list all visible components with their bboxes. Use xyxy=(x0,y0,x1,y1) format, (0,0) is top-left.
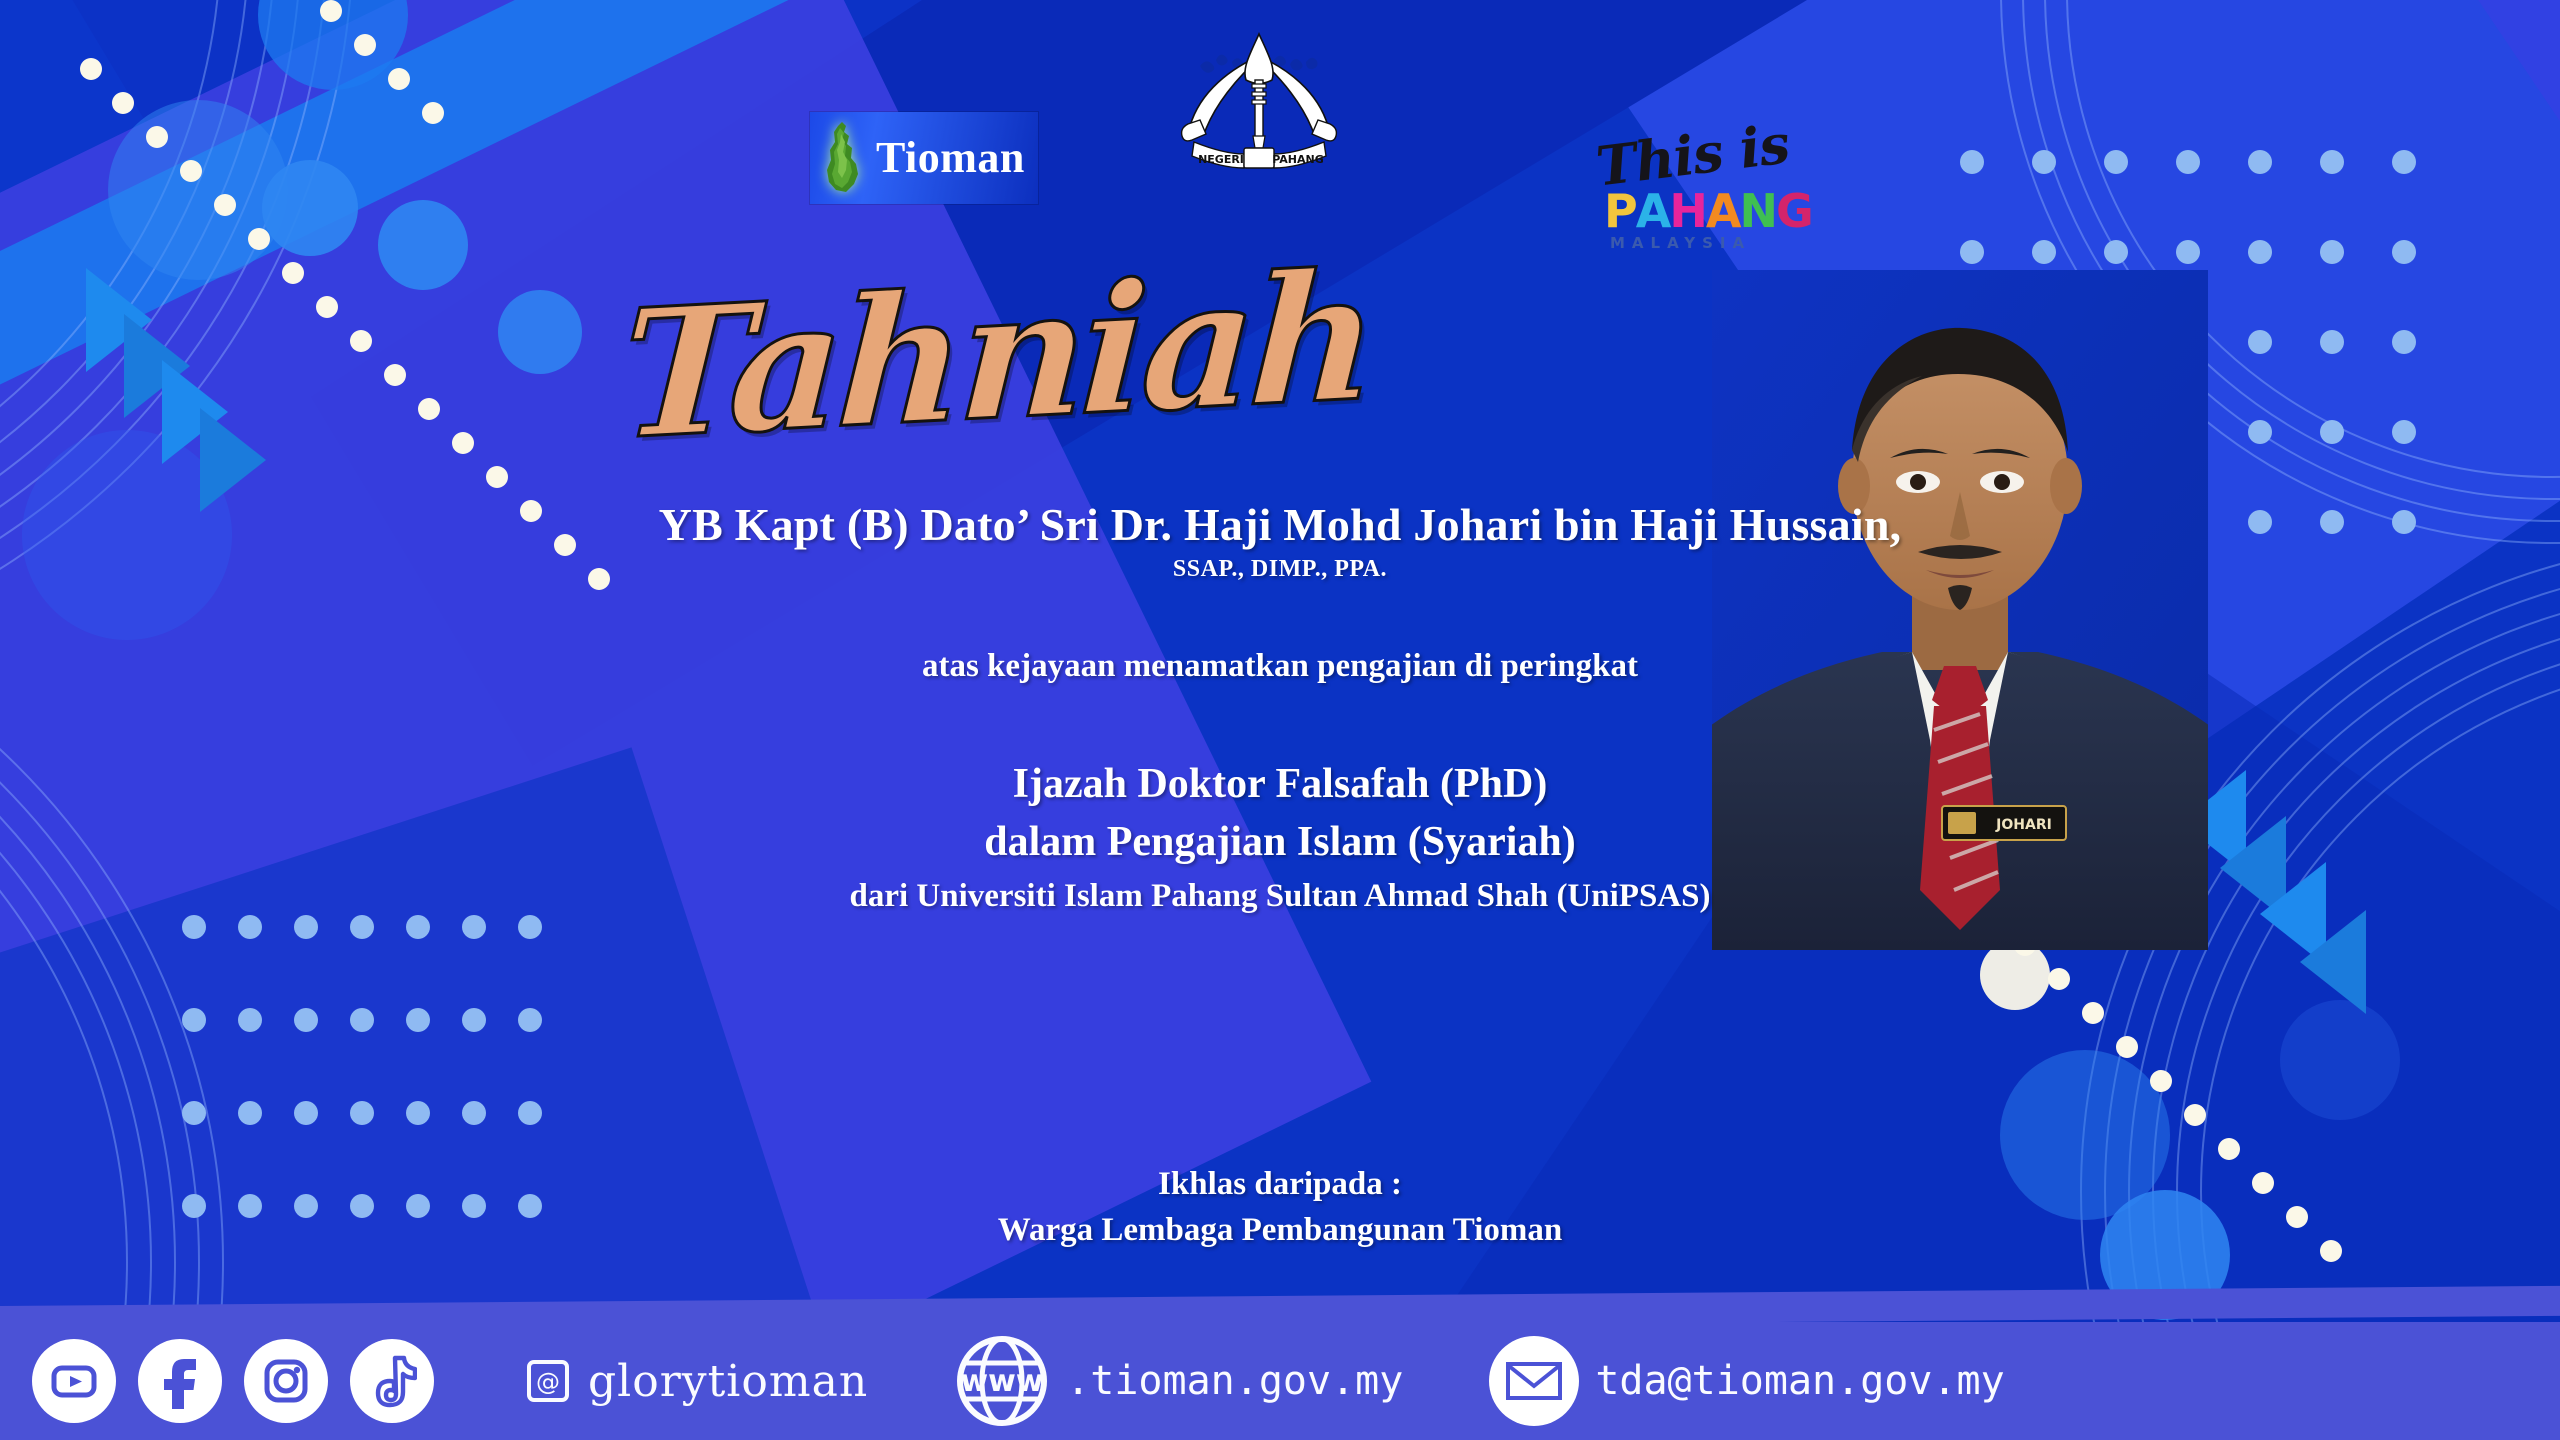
www-label: www xyxy=(961,1364,1044,1399)
tourism-letter-a2: A xyxy=(1706,188,1740,234)
instagram-icon[interactable] xyxy=(244,1339,328,1423)
logo-row: Tioman xyxy=(0,0,2560,250)
chevron-cluster-upper-left xyxy=(86,268,386,498)
crest-banner-right: PAHANG xyxy=(1272,153,1324,166)
university-line: dari Universiti Islam Pahang Sultan Ahma… xyxy=(0,878,2560,915)
headline-tahniah: Tahniah xyxy=(614,248,1385,519)
tioman-island-icon xyxy=(818,120,870,196)
at-box-icon: @ xyxy=(524,1357,572,1405)
youtube-icon[interactable] xyxy=(32,1339,116,1423)
tourism-letter-a1: A xyxy=(1636,188,1670,234)
honoree-name: YB Kapt (B) Dato’ Sri Dr. Haji Mohd Joha… xyxy=(0,498,2560,551)
footer-contact-bar: @ glorytioman www .tioman.gov.my xyxy=(0,1322,2560,1440)
website-text: .tioman.gov.my xyxy=(1066,1358,1403,1404)
tiktok-icon[interactable] xyxy=(350,1339,434,1423)
tourism-letter-h: H xyxy=(1669,188,1706,234)
tourism-letter-n: N xyxy=(1739,188,1776,234)
congratulations-poster: Tioman xyxy=(0,0,2560,1440)
sincerely-label: Ikhlas daripada : xyxy=(0,1166,2560,1203)
honoree-postnominals: SSAP., DIMP., PPA. xyxy=(0,556,2560,583)
social-handle-text: glorytioman xyxy=(588,1356,868,1407)
tourism-subline: MALAYSIA xyxy=(1610,234,1751,252)
tourism-script-text: This is xyxy=(1593,116,1791,193)
tourism-wordmark: P A H A N G xyxy=(1604,188,1812,234)
website-group[interactable]: www .tioman.gov.my xyxy=(954,1333,1403,1429)
social-handle-group[interactable]: @ glorytioman xyxy=(524,1356,868,1407)
at-symbol: @ xyxy=(536,1368,560,1396)
organisation-name: Warga Lembaga Pembangunan Tioman xyxy=(0,1212,2560,1249)
tioman-wordmark: Tioman xyxy=(876,136,1025,180)
email-group[interactable]: tda@tioman.gov.my xyxy=(1489,1336,2004,1426)
email-text: tda@tioman.gov.my xyxy=(1595,1358,2004,1404)
pahang-state-crest-icon: NEGERI PAHANG xyxy=(1178,30,1340,170)
degree-line-1: Ijazah Doktor Falsafah (PhD) xyxy=(0,760,2560,808)
crest-banner-left: NEGERI xyxy=(1198,153,1244,166)
tioman-logo: Tioman xyxy=(810,112,1038,204)
facebook-icon[interactable] xyxy=(138,1339,222,1423)
envelope-icon xyxy=(1489,1336,1579,1426)
tourism-letter-g: G xyxy=(1776,188,1812,234)
www-globe-icon: www xyxy=(954,1333,1050,1429)
reason-line: atas kejayaan menamatkan pengajian di pe… xyxy=(0,648,2560,685)
degree-line-2: dalam Pengajian Islam (Syariah) xyxy=(0,818,2560,866)
pahang-tourism-logo: This is P A H A N G MALAYSIA xyxy=(1600,138,1800,250)
tourism-letter-p: P xyxy=(1604,188,1636,234)
